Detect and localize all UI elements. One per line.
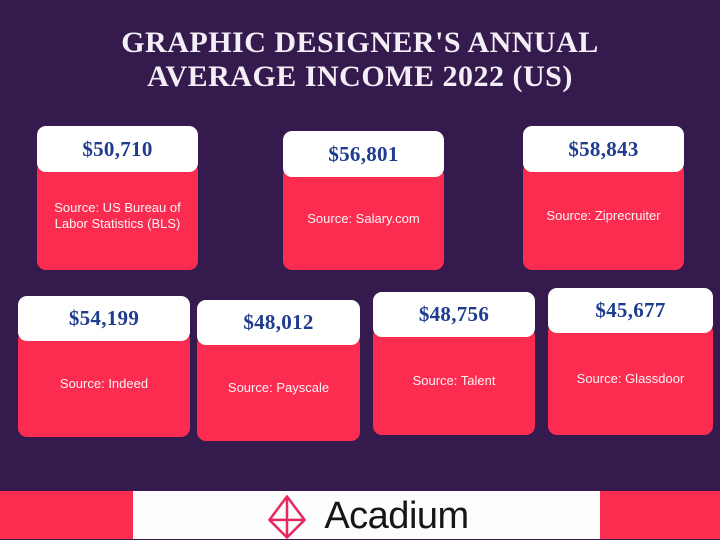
salary-source: Source: Salary.com (307, 211, 419, 227)
salary-card: $50,710 Source: US Bureau of Labor Stati… (37, 126, 198, 270)
salary-card-source-panel: Source: US Bureau of Labor Statistics (B… (37, 162, 198, 270)
footer-logo-panel: Acadium (133, 491, 600, 539)
salary-card: $48,756 Source: Talent (373, 292, 535, 435)
salary-card: $48,012 Source: Payscale (197, 300, 360, 441)
salary-source: Source: Ziprecruiter (546, 208, 660, 224)
salary-card-source-panel: Source: Indeed (18, 331, 190, 437)
salary-card: $54,199 Source: Indeed (18, 296, 190, 437)
salary-source: Source: Payscale (228, 380, 329, 396)
salary-source: Source: Indeed (60, 376, 148, 392)
salary-source: Source: Glassdoor (577, 371, 685, 387)
salary-amount: $50,710 (82, 137, 152, 162)
salary-card-amount-panel: $48,012 (197, 300, 360, 345)
salary-amount: $54,199 (69, 306, 139, 331)
salary-card-source-panel: Source: Salary.com (283, 167, 444, 270)
salary-card-amount-panel: $56,801 (283, 131, 444, 177)
salary-card: $45,677 Source: Glassdoor (548, 288, 713, 435)
salary-card-amount-panel: $50,710 (37, 126, 198, 172)
salary-amount: $48,012 (243, 310, 313, 335)
salary-source: Source: US Bureau of Labor Statistics (B… (45, 200, 190, 232)
salary-card: $58,843 Source: Ziprecruiter (523, 126, 684, 270)
salary-card: $56,801 Source: Salary.com (283, 131, 444, 270)
salary-amount: $45,677 (595, 298, 665, 323)
salary-card-source-panel: Source: Payscale (197, 335, 360, 441)
salary-amount: $48,756 (419, 302, 489, 327)
salary-card-amount-panel: $48,756 (373, 292, 535, 337)
infographic-canvas: GRAPHIC DESIGNER'S ANNUAL AVERAGE INCOME… (0, 0, 720, 539)
page-title-line-1: GRAPHIC DESIGNER'S ANNUAL (0, 26, 720, 60)
salary-source: Source: Talent (413, 373, 496, 389)
salary-amount: $58,843 (568, 137, 638, 162)
salary-card-source-panel: Source: Talent (373, 327, 535, 435)
page-title: GRAPHIC DESIGNER'S ANNUAL AVERAGE INCOME… (0, 26, 720, 94)
salary-card-amount-panel: $58,843 (523, 126, 684, 172)
acadium-wordmark: Acadium (324, 497, 468, 535)
salary-card-amount-panel: $45,677 (548, 288, 713, 333)
salary-amount: $56,801 (328, 142, 398, 167)
salary-card-amount-panel: $54,199 (18, 296, 190, 341)
page-title-line-2: AVERAGE INCOME 2022 (US) (0, 60, 720, 94)
acadium-diamond-a-logo-icon (264, 494, 310, 540)
salary-card-source-panel: Source: Glassdoor (548, 323, 713, 435)
salary-card-source-panel: Source: Ziprecruiter (523, 162, 684, 270)
